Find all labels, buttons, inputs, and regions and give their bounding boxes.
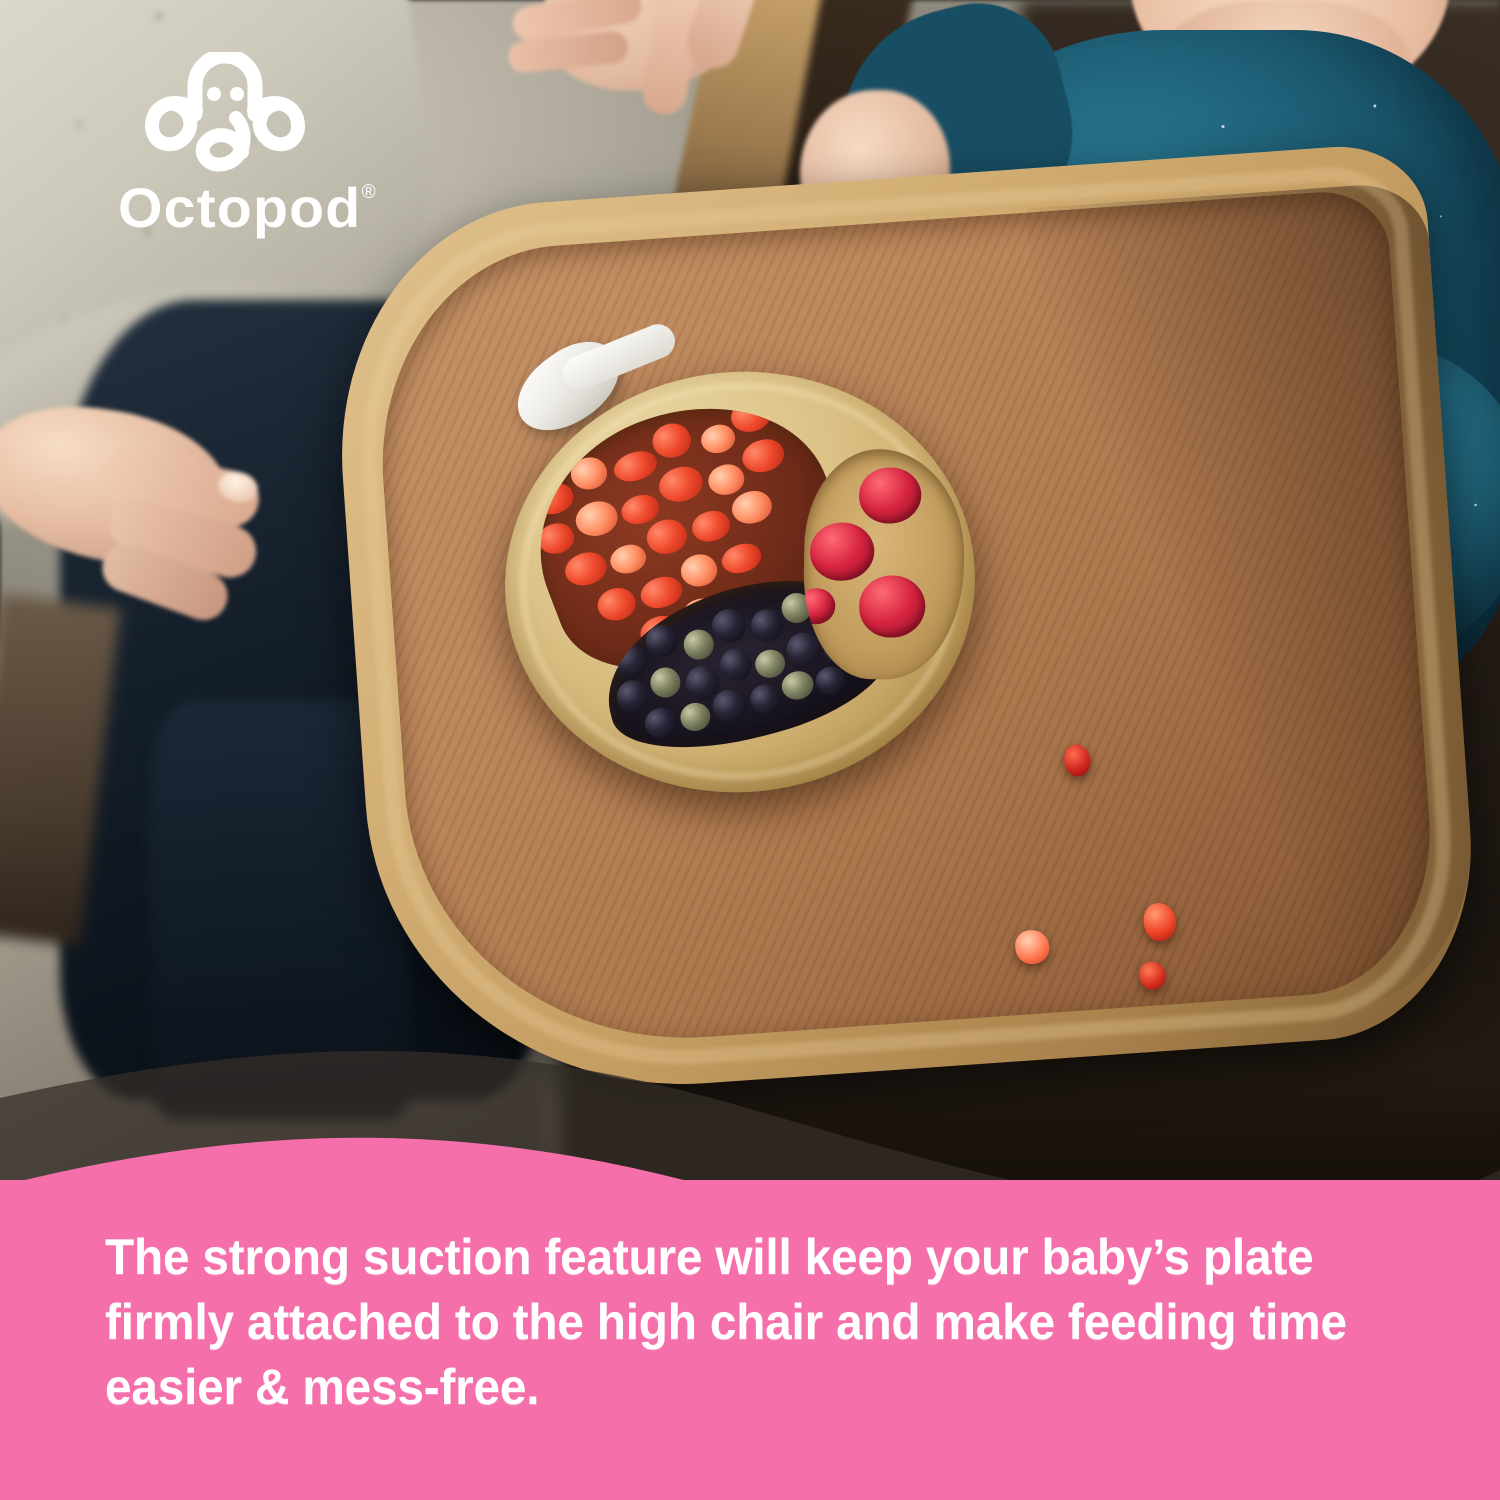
brand-wordmark: Octopod ® <box>118 180 418 242</box>
adult-resting-hand <box>0 400 310 670</box>
wave-divider <box>0 1020 1500 1180</box>
octopus-logo-icon <box>140 52 310 177</box>
wave-divider-svg <box>0 1020 1500 1180</box>
registered-trademark-icon: ® <box>362 183 376 202</box>
octopus-eye-right <box>230 87 244 101</box>
brand-logo: Octopod ® <box>118 52 418 257</box>
octopus-logo-svg <box>140 52 310 177</box>
bamboo-suction-plate <box>488 352 993 811</box>
caption-text: The strong suction feature will keep you… <box>105 1225 1366 1420</box>
adult-pointing-hand <box>500 0 780 170</box>
product-lifestyle-image: The strong suction feature will keep you… <box>0 0 1500 1500</box>
octopus-eye-left <box>207 87 221 101</box>
brand-name: Octopod <box>118 180 361 236</box>
